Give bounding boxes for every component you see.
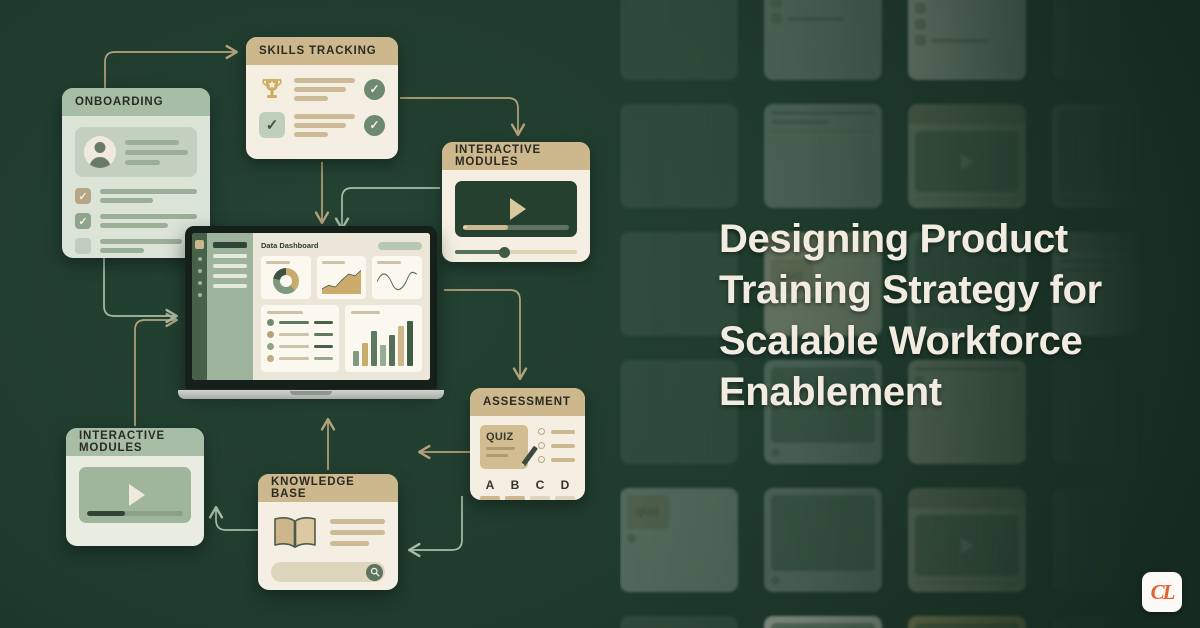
bg-card <box>908 616 1026 628</box>
bg-card <box>908 488 1026 592</box>
avatar-icon <box>84 136 116 168</box>
text-line <box>294 87 346 92</box>
quiz-paper-icon: QUIZ <box>480 425 528 469</box>
rail-dot-icon[interactable] <box>198 281 202 285</box>
list-item[interactable] <box>267 319 333 326</box>
card-knowledge-base-title: KNOWLEDGE BASE <box>258 474 398 502</box>
bg-card <box>764 488 882 592</box>
quiz-label: QUIZ <box>486 431 522 443</box>
poster-canvas: QUIZ QUIZ <box>0 0 1200 628</box>
laptop-mockup: Data Dashboard <box>178 226 444 408</box>
area-chart <box>322 268 362 294</box>
rail-dot-icon[interactable] <box>198 257 202 261</box>
line-chart <box>377 268 417 294</box>
dashboard-title: Data Dashboard <box>261 241 319 250</box>
text-line <box>125 140 179 145</box>
text-line <box>294 132 328 137</box>
bg-card <box>1052 0 1170 80</box>
bg-card <box>1052 616 1170 628</box>
arrow-assessment-to-knowledge-green <box>410 496 462 550</box>
open-book-icon <box>271 513 319 551</box>
sidebar-header <box>213 242 247 248</box>
text-line <box>125 160 160 165</box>
bg-card <box>620 104 738 208</box>
text-line <box>330 541 369 546</box>
bg-card <box>908 0 1026 80</box>
quiz-option[interactable] <box>538 428 575 435</box>
arrow-knowledge-to-modules <box>216 508 258 530</box>
skill-row: ✓ ✓ <box>259 112 385 138</box>
bg-card <box>1052 104 1170 208</box>
video-progress-bar[interactable] <box>87 511 183 516</box>
search-icon[interactable] <box>366 564 383 581</box>
laptop-lid: Data Dashboard <box>185 226 437 389</box>
sidebar-item[interactable] <box>213 254 247 258</box>
card-assessment-title: ASSESSMENT <box>470 388 585 416</box>
quiz-option[interactable] <box>538 442 575 449</box>
slider-handle[interactable] <box>499 247 510 258</box>
card-assessment[interactable]: ASSESSMENT QUIZ A B C D <box>470 388 585 500</box>
answer-choice[interactable]: B <box>505 478 525 500</box>
rail-dot-icon[interactable] <box>198 269 202 273</box>
search-input[interactable] <box>271 562 385 582</box>
status-check-icon: ✓ <box>364 79 385 100</box>
radio-icon <box>538 428 545 435</box>
text-line <box>294 114 355 119</box>
answer-choice[interactable]: A <box>480 478 500 500</box>
card-interactive-modules-top-title: INTERACTIVE MODULES <box>442 142 590 170</box>
video-player[interactable] <box>79 467 191 523</box>
list-item[interactable] <box>267 331 333 338</box>
play-small-icon <box>463 225 468 230</box>
card-knowledge-base[interactable]: KNOWLEDGE BASE <box>258 474 398 590</box>
page-title: Designing Product Training Strategy for … <box>719 214 1159 418</box>
bg-card: QUIZ <box>620 488 738 592</box>
play-icon[interactable] <box>129 484 145 506</box>
arrow-skills-to-modules <box>400 98 518 134</box>
dashboard-icon-rail[interactable] <box>192 233 207 380</box>
text-line <box>294 123 346 128</box>
chart-tile-line <box>372 256 422 299</box>
bg-card <box>764 616 882 628</box>
brand-logo[interactable]: CL <box>1142 572 1182 612</box>
text-line <box>294 96 328 101</box>
arrow-modules-to-laptop <box>135 320 176 426</box>
checkmark-badge-icon: ✓ <box>259 112 285 138</box>
dashboard-action-button[interactable] <box>378 242 422 250</box>
donut-chart <box>273 268 299 294</box>
radio-icon <box>538 442 545 449</box>
answer-choice[interactable]: C <box>530 478 550 500</box>
chart-tile-donut <box>261 256 311 299</box>
video-player[interactable] <box>455 181 577 237</box>
onboarding-profile-panel <box>75 127 197 177</box>
video-progress-bar[interactable] <box>463 225 569 230</box>
bar-chart <box>351 319 417 366</box>
chart-tile-bar <box>345 305 423 372</box>
bg-card <box>620 0 738 80</box>
list-item[interactable] <box>267 343 333 350</box>
pencil-icon <box>521 446 538 467</box>
quiz-option[interactable] <box>538 456 575 463</box>
bg-card <box>764 0 882 80</box>
card-interactive-modules-bottom[interactable]: INTERACTIVE MODULES <box>66 428 204 546</box>
onboarding-checklist-item[interactable]: ✓ <box>75 188 197 204</box>
bg-card <box>908 104 1026 208</box>
text-line <box>330 530 385 535</box>
laptop-screen: Data Dashboard <box>192 233 430 380</box>
arrow-modules-to-laptop-green <box>342 188 440 228</box>
list-panel <box>261 305 339 372</box>
list-item[interactable] <box>267 355 333 362</box>
arrow-laptop-to-assessment <box>444 290 520 378</box>
text-line <box>330 519 385 524</box>
checkbox-checked-icon[interactable]: ✓ <box>75 188 91 204</box>
text-line <box>294 78 355 83</box>
card-skills-tracking-title: SKILLS TRACKING <box>246 37 398 65</box>
card-interactive-modules-top[interactable]: INTERACTIVE MODULES <box>442 142 590 262</box>
answer-choice[interactable]: D <box>555 478 575 500</box>
module-slider[interactable] <box>455 248 577 256</box>
chart-tile-area <box>317 256 367 299</box>
dashboard-sidebar[interactable] <box>207 233 253 380</box>
rail-dot-icon[interactable] <box>198 293 202 297</box>
play-icon[interactable] <box>510 198 526 220</box>
laptop-base <box>178 390 444 399</box>
checkbox-checked-icon[interactable]: ✓ <box>75 213 91 229</box>
dashboard-main: Data Dashboard <box>253 233 430 380</box>
radio-icon <box>538 456 545 463</box>
skill-row: ✓ <box>259 76 385 102</box>
bg-card <box>620 616 738 628</box>
card-skills-tracking[interactable]: SKILLS TRACKING ✓ ✓ <box>246 37 398 159</box>
checkbox-unchecked-icon[interactable] <box>75 238 91 254</box>
text-line <box>125 150 188 155</box>
sidebar-item[interactable] <box>213 284 247 288</box>
sidebar-item[interactable] <box>213 264 247 268</box>
trophy-icon <box>259 76 285 102</box>
status-check-icon: ✓ <box>364 115 385 136</box>
bg-card <box>764 104 882 208</box>
logo-monogram: CL <box>1151 580 1174 605</box>
card-interactive-modules-bottom-title: INTERACTIVE MODULES <box>66 428 204 456</box>
card-onboarding-title: ONBOARDING <box>62 88 210 116</box>
arrow-onboarding-to-laptop <box>104 256 176 316</box>
sidebar-item[interactable] <box>213 274 247 278</box>
app-logo-icon <box>195 240 204 249</box>
